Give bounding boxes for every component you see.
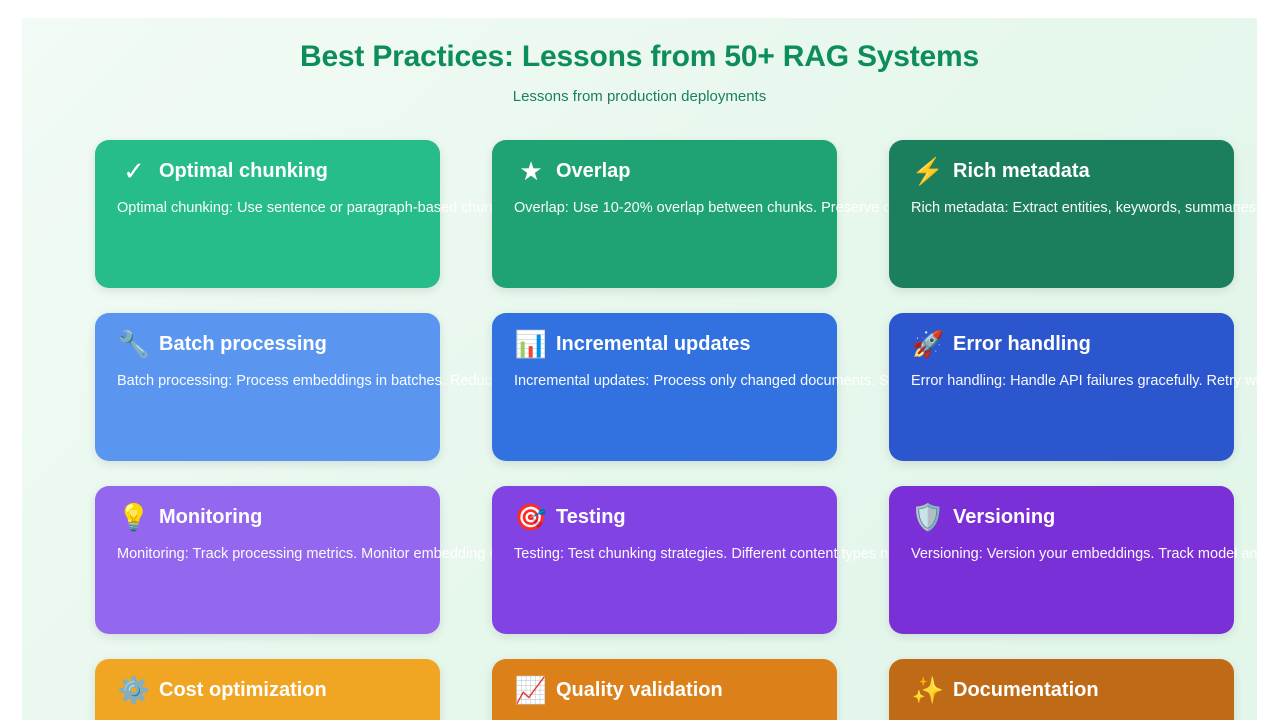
practice-card-description: Error handling: Handle API failures grac… (911, 372, 1212, 392)
practice-card-header: 📊Incremental updates (514, 331, 815, 357)
practice-card[interactable]: ⚙️Cost optimizationCost optimization: Mo… (95, 659, 440, 720)
practice-card-description: Incremental updates: Process only change… (514, 372, 815, 392)
practice-card-header: 🔧Batch processing (117, 331, 418, 357)
practice-card[interactable]: 🚀Error handlingError handling: Handle AP… (889, 313, 1234, 461)
screenshot-root: Best Practices: Lessons from 50+ RAG Sys… (0, 0, 1280, 720)
practice-card-title: Batch processing (159, 333, 327, 355)
practice-card-header: ✓Optimal chunking (117, 158, 418, 184)
practice-card[interactable]: 🔧Batch processingBatch processing: Proce… (95, 313, 440, 461)
page-container: Best Practices: Lessons from 50+ RAG Sys… (22, 18, 1257, 720)
practice-card[interactable]: ⚡Rich metadataRich metadata: Extract ent… (889, 140, 1234, 288)
practice-card-title: Documentation (953, 679, 1099, 701)
practice-card-description: Batch processing: Process embeddings in … (117, 372, 418, 392)
practice-card[interactable]: 📈Quality validationQuality validation: V… (492, 659, 837, 720)
lightning-bolt-icon: ⚡ (911, 158, 945, 184)
best-practices-grid: ✓Optimal chunkingOptimal chunking: Use s… (95, 140, 1257, 720)
practice-card-title: Rich metadata (953, 160, 1090, 182)
practice-card-description: Optimal chunking: Use sentence or paragr… (117, 199, 418, 219)
target-icon: 🎯 (514, 504, 548, 530)
page-title: Best Practices: Lessons from 50+ RAG Sys… (22, 38, 1257, 76)
practice-card-header: 📈Quality validation (514, 677, 815, 703)
practice-card-title: Error handling (953, 333, 1091, 355)
practice-card-title: Incremental updates (556, 333, 751, 355)
practice-card-title: Cost optimization (159, 679, 327, 701)
practice-card-description: Testing: Test chunking strategies. Diffe… (514, 545, 815, 565)
practice-card-description: Monitoring: Track processing metrics. Mo… (117, 545, 418, 565)
wrench-icon: 🔧 (117, 331, 151, 357)
practice-card[interactable]: 🎯TestingTesting: Test chunking strategie… (492, 486, 837, 634)
practice-card[interactable]: ✨DocumentationDocumentation: Document yo… (889, 659, 1234, 720)
bar-chart-icon: 📊 (514, 331, 548, 357)
practice-card-header: ⚙️Cost optimization (117, 677, 418, 703)
practice-card-title: Testing (556, 506, 626, 528)
page-subtitle: Lessons from production deployments (22, 88, 1257, 105)
practice-card-header: ✨Documentation (911, 677, 1212, 703)
practice-card[interactable]: 🛡️VersioningVersioning: Version your emb… (889, 486, 1234, 634)
practice-card[interactable]: 📊Incremental updatesIncremental updates:… (492, 313, 837, 461)
practice-card-header: 🚀Error handling (911, 331, 1212, 357)
rocket-icon: 🚀 (911, 331, 945, 357)
practice-card-header: 🎯Testing (514, 504, 815, 530)
practice-card[interactable]: ✓Optimal chunkingOptimal chunking: Use s… (95, 140, 440, 288)
star-icon: ★ (514, 158, 548, 184)
sparkles-icon: ✨ (911, 677, 945, 703)
practice-card-header: 💡Monitoring (117, 504, 418, 530)
practice-card[interactable]: ★OverlapOverlap: Use 10-20% overlap betw… (492, 140, 837, 288)
practice-card-header: ★Overlap (514, 158, 815, 184)
practice-card-header: 🛡️Versioning (911, 504, 1212, 530)
practice-card-title: Optimal chunking (159, 160, 328, 182)
practice-card-title: Overlap (556, 160, 630, 182)
gear-icon: ⚙️ (117, 677, 151, 703)
page-header: Best Practices: Lessons from 50+ RAG Sys… (22, 18, 1257, 105)
practice-card[interactable]: 💡MonitoringMonitoring: Track processing … (95, 486, 440, 634)
practice-card-description: Rich metadata: Extract entities, keyword… (911, 199, 1212, 219)
practice-card-description: Versioning: Version your embeddings. Tra… (911, 545, 1212, 565)
practice-card-title: Quality validation (556, 679, 723, 701)
check-mark-icon: ✓ (117, 158, 151, 184)
practice-card-description: Overlap: Use 10-20% overlap between chun… (514, 199, 815, 219)
practice-card-title: Versioning (953, 506, 1055, 528)
light-bulb-icon: 💡 (117, 504, 151, 530)
chart-increasing-icon: 📈 (514, 677, 548, 703)
practice-card-title: Monitoring (159, 506, 262, 528)
shield-icon: 🛡️ (911, 504, 945, 530)
practice-card-header: ⚡Rich metadata (911, 158, 1212, 184)
